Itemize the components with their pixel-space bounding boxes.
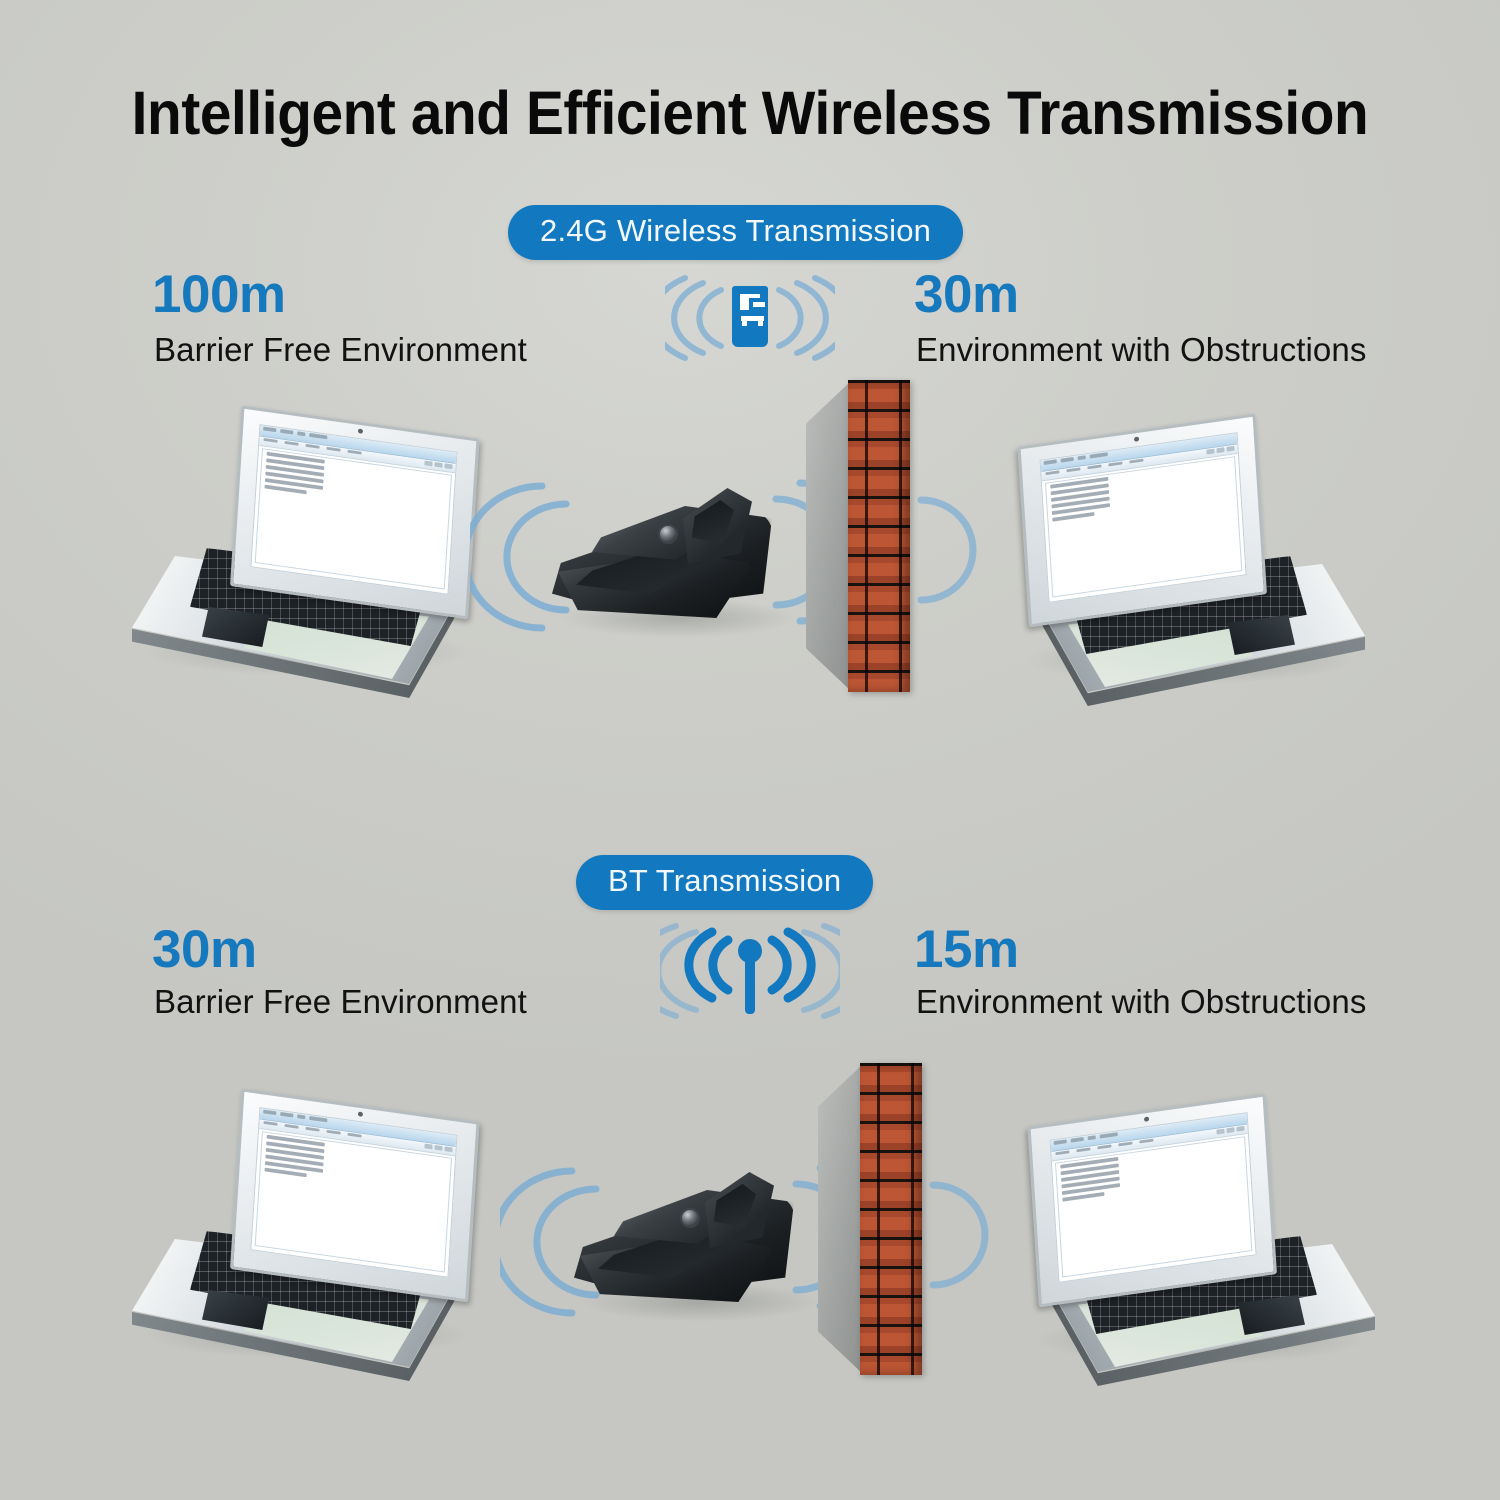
software-window — [1051, 1113, 1256, 1281]
bluetooth-antenna-icon — [660, 918, 840, 1023]
laptop-lid — [1027, 1094, 1277, 1308]
scanner-cradle-bt — [562, 1152, 862, 1322]
webcam-icon — [358, 1111, 363, 1116]
laptop-right-bt — [995, 1080, 1375, 1400]
metric-caption-left-bt: Barrier Free Environment — [154, 983, 527, 1021]
metric-value-left-bt: 30m — [152, 919, 257, 980]
window-data-rows — [1058, 1155, 1123, 1207]
laptop-screen — [1050, 1112, 1257, 1283]
scanner-lens-icon — [680, 1208, 700, 1228]
badge-bt-transmission: BT Transmission — [576, 855, 873, 910]
laptop-left-bt — [132, 1075, 512, 1395]
metric-caption-right-bt: Environment with Obstructions — [916, 983, 1366, 1021]
window-data-rows — [262, 1133, 327, 1185]
brick-wall-bt — [818, 1063, 928, 1375]
window-body — [1055, 1136, 1252, 1277]
laptop-lid — [230, 1089, 480, 1303]
webcam-icon — [1144, 1116, 1149, 1121]
infographic-page: Intelligent and Efficient Wireless Trans… — [0, 0, 1500, 1500]
wall-side-face — [818, 1063, 864, 1375]
section-bluetooth: BT Transmission 30m Barrier Free Environ… — [0, 0, 1500, 1500]
wall-brick-face — [860, 1063, 922, 1375]
metric-value-right-bt: 15m — [914, 919, 1019, 980]
laptop-screen — [250, 1107, 457, 1278]
software-window — [251, 1108, 456, 1276]
